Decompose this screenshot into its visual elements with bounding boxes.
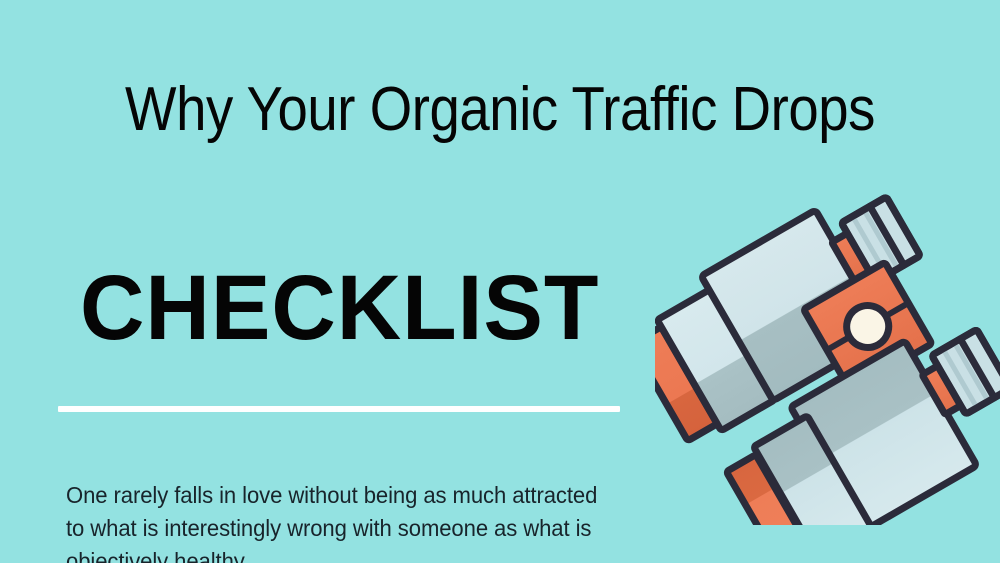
page-title: Why Your Organic Traffic Drops: [60, 80, 940, 140]
body-paragraph: One rarely falls in love without being a…: [66, 479, 602, 563]
checklist-heading: CHECKLIST: [80, 262, 599, 354]
slide-canvas: Why Your Organic Traffic Drops CHECKLIST…: [0, 0, 1000, 563]
divider-rule: [58, 406, 620, 412]
binoculars-illustration: [655, 175, 1000, 525]
